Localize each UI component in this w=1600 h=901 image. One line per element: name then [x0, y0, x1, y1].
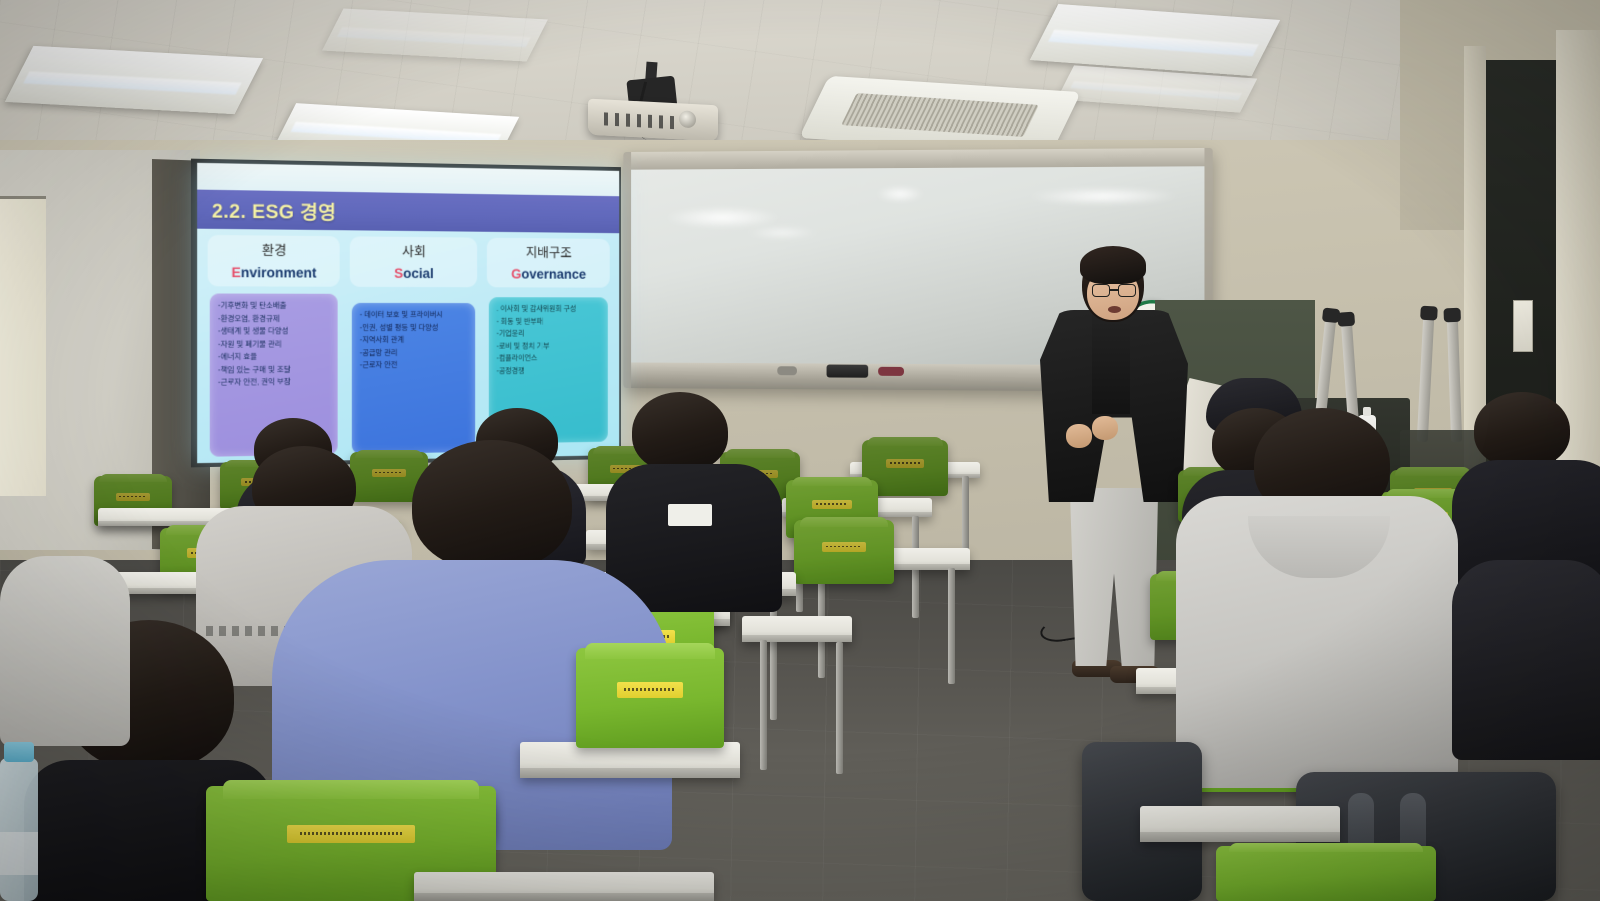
- slide-bullet: -생태계 및 생물 다양성: [218, 326, 332, 335]
- slide-bullet: -기업윤리: [497, 329, 603, 338]
- desk: [1140, 806, 1340, 842]
- hand: [1092, 416, 1118, 440]
- column-header: 사회 Social: [350, 236, 477, 287]
- slide-bullet: -에너지 효율: [218, 351, 332, 361]
- slide-column-social: 사회 Social - 데이터 보호 및 프라이버시 -인권, 성별 평등 및 …: [350, 236, 477, 454]
- slide-bullet: . 이사회 및 감사위원회 구성: [497, 304, 603, 313]
- slide-title-bar: 2.2. ESG 경영: [197, 190, 619, 234]
- desk: [414, 872, 714, 901]
- slide-bullet: -인권, 성별 평등 및 다양성: [360, 322, 470, 331]
- slide-bullet: -근로자 안전: [360, 360, 470, 370]
- slide-bullet: -기후변화 및 탄소배출: [218, 301, 332, 310]
- whiteboard-marker[interactable]: [777, 366, 797, 375]
- slide-bullet: -로비 및 정치 기부: [497, 341, 603, 350]
- chair[interactable]: [576, 648, 724, 748]
- slide-bullet: - 회동 및 반부패: [497, 316, 603, 325]
- ceiling-projector: [588, 99, 718, 142]
- presenter-trousers: [1066, 488, 1162, 666]
- slide-bullet: -지역사회 관계: [360, 335, 470, 344]
- slide-bullet: -공급망 관리: [360, 347, 470, 357]
- slide-bullet: - 데이터 보호 및 프라이버시: [360, 310, 470, 319]
- column-english-label: Governance: [511, 267, 586, 282]
- chair[interactable]: [1216, 846, 1436, 901]
- column-korean-label: 사회: [402, 241, 426, 260]
- slide-bullet: -근로자 안전, 권익 보장: [218, 377, 332, 387]
- column-items-box: - 데이터 보호 및 프라이버시 -인권, 성별 평등 및 다양성 -지역사회 …: [352, 303, 475, 454]
- mouth: [1108, 306, 1121, 313]
- presenter-shirt: [1092, 314, 1130, 414]
- slide-bullet: -자원 및 폐기물 관리: [218, 339, 332, 349]
- slide-bullet: -책임 있는 구매 및 조달: [218, 364, 332, 374]
- whiteboard-marker[interactable]: [878, 367, 904, 376]
- ceiling-light: [5, 46, 263, 114]
- column-english-label: Environment: [231, 265, 316, 281]
- desk: [742, 616, 852, 642]
- window-blind: [0, 196, 46, 496]
- eyeglasses: [1092, 284, 1136, 297]
- column-header: 환경 Environment: [208, 235, 340, 287]
- light-switch[interactable]: [1513, 300, 1533, 352]
- slide-bullet: -공정경쟁: [497, 365, 603, 375]
- classroom-scene: 2.2. ESG 경영 환경 Environment -기후변화 및 탄소배출 …: [0, 0, 1600, 901]
- chair[interactable]: [794, 520, 894, 584]
- hand: [1066, 424, 1092, 448]
- column-korean-label: 환경: [262, 240, 287, 260]
- hair: [1080, 246, 1146, 284]
- column-header: 지배구조 Governance: [487, 238, 610, 288]
- projected-slide: 2.2. ESG 경영 환경 Environment -기후변화 및 탄소배출 …: [197, 163, 619, 463]
- column-korean-label: 지배구조: [526, 242, 572, 261]
- slide-bullet: -환경오염, 환경규제: [218, 314, 332, 323]
- column-english-label: Social: [394, 266, 434, 281]
- slide-bullet: -컴플라이언스: [497, 353, 603, 362]
- slide-title: 2.2. ESG 경영: [197, 195, 336, 224]
- name-tag: [668, 504, 712, 526]
- water-bottle[interactable]: [0, 758, 38, 901]
- whiteboard-eraser[interactable]: [827, 365, 869, 378]
